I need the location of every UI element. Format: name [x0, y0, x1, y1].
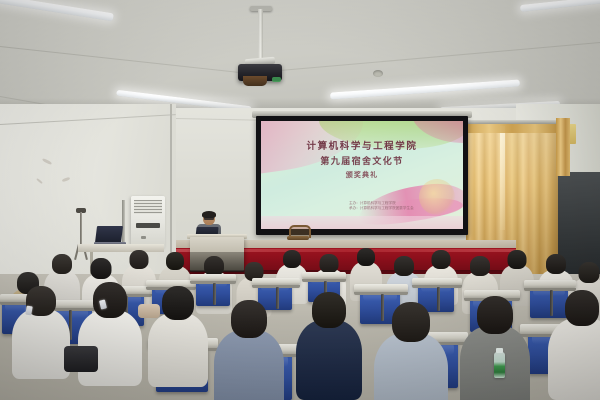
- glasses-icon: [204, 217, 214, 220]
- classroom-photo: 计算机科学与工程学院 第九届宿舍文化节 颁奖典礼 主办：计算机科学与工程学院 承…: [0, 0, 600, 400]
- curtain-fabric: [556, 118, 570, 176]
- desk-tablet-arm: [524, 280, 576, 288]
- person-head: [312, 292, 346, 328]
- projection-screen: 计算机科学与工程学院 第九届宿舍文化节 颁奖典礼 主办：计算机科学与工程学院 承…: [261, 121, 463, 229]
- desk-tablet-arm: [354, 284, 408, 292]
- audience-person: [148, 286, 208, 394]
- person-head: [93, 282, 127, 318]
- air-conditioner-indicator: [141, 236, 146, 239]
- person-head: [357, 248, 375, 266]
- person-head: [204, 256, 224, 276]
- projector-indicator: [272, 77, 281, 82]
- camera-tripod: [80, 212, 82, 248]
- projector-lens: [243, 76, 267, 86]
- person-torso: [374, 333, 448, 400]
- slide-subtitle-secondary: 颁奖典礼: [261, 170, 463, 180]
- person-head: [477, 296, 513, 334]
- audience-person: [374, 302, 448, 400]
- side-laptop-screen: [95, 226, 123, 243]
- water-bottle[interactable]: [494, 352, 505, 378]
- person-head: [565, 290, 599, 326]
- person-head: [320, 254, 339, 273]
- audience-person: [78, 282, 142, 394]
- person-head: [166, 252, 184, 270]
- audience-person: [548, 290, 600, 400]
- desk-tablet-arm: [302, 272, 346, 279]
- person-head: [579, 262, 600, 283]
- curtain-gap-light: [500, 126, 505, 230]
- audience-person: [214, 300, 284, 400]
- desk-tablet-arm: [190, 274, 236, 281]
- person-head: [52, 254, 72, 274]
- person-head: [162, 286, 194, 320]
- desk-tablet-arm: [252, 278, 300, 285]
- clothing-item: [138, 304, 160, 318]
- person-head: [392, 302, 430, 342]
- person-head: [231, 300, 267, 338]
- slide-title: 计算机科学与工程学院: [261, 138, 463, 152]
- person-torso: [296, 320, 362, 400]
- person-head: [432, 250, 451, 269]
- person-head: [508, 250, 527, 269]
- ceiling-vent-icon: [373, 70, 383, 77]
- person-head: [546, 254, 566, 274]
- air-conditioner-panel: [136, 223, 160, 228]
- slide-credits-line: 承办：计算机科学与工程学院团委学生会: [349, 206, 437, 211]
- person-head: [91, 258, 112, 279]
- slide-credits: 主办：计算机科学与工程学院 承办：计算机科学与工程学院团委学生会: [349, 201, 437, 211]
- projector-pole: [258, 9, 263, 61]
- person-head: [394, 256, 414, 276]
- person-torso: [12, 309, 70, 379]
- slide-subtitle: 第九届宿舍文化节: [261, 154, 463, 167]
- mic-stand: [122, 200, 125, 244]
- desk-tablet-arm: [412, 278, 462, 285]
- air-conditioner-grill: [134, 200, 162, 214]
- audience-person: [296, 292, 362, 400]
- backpack[interactable]: [64, 346, 98, 372]
- audience-person: [460, 296, 530, 400]
- bottle-cap: [496, 348, 503, 353]
- person-head: [283, 250, 301, 268]
- curtain-rod: [462, 120, 562, 124]
- audience-person: [12, 286, 70, 386]
- person-torso: [148, 313, 208, 387]
- person-torso: [548, 318, 600, 400]
- window-curtain-secondary: [556, 118, 570, 176]
- person-head: [470, 256, 490, 276]
- person-head: [130, 250, 149, 269]
- person-torso: [214, 330, 284, 400]
